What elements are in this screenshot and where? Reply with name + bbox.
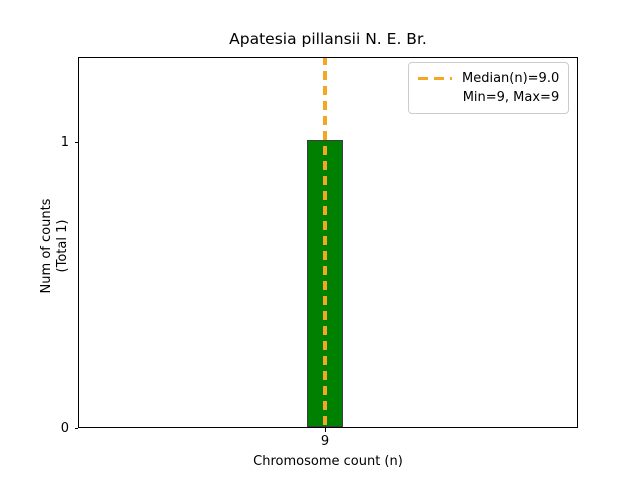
y-axis-label: Num of counts(Total 1)	[39, 60, 71, 432]
y-axis-label-line1: Num of counts	[39, 199, 54, 294]
blank-swatch-icon	[418, 96, 452, 100]
dashed-line-icon	[418, 77, 452, 81]
chart-figure: Apatesia pillansii N. E. Br. 0 1 9 Chrom…	[0, 0, 640, 480]
page-title: Apatesia pillansii N. E. Br.	[78, 30, 578, 48]
y-axis-label-line2: (Total 1)	[55, 220, 70, 273]
legend-item-minmax: Min=9, Max=9	[418, 88, 559, 107]
x-tick-mark-9	[325, 428, 326, 432]
legend-label-minmax: Min=9, Max=9	[462, 90, 559, 105]
legend: Median(n)=9.0 Min=9, Max=9	[408, 62, 569, 114]
legend-item-median: Median(n)=9.0	[418, 69, 559, 88]
legend-label-median: Median(n)=9.0	[462, 71, 559, 86]
x-tick-label-9: 9	[305, 434, 345, 449]
median-line	[323, 57, 327, 428]
x-axis-label: Chromosome count (n)	[78, 454, 578, 469]
